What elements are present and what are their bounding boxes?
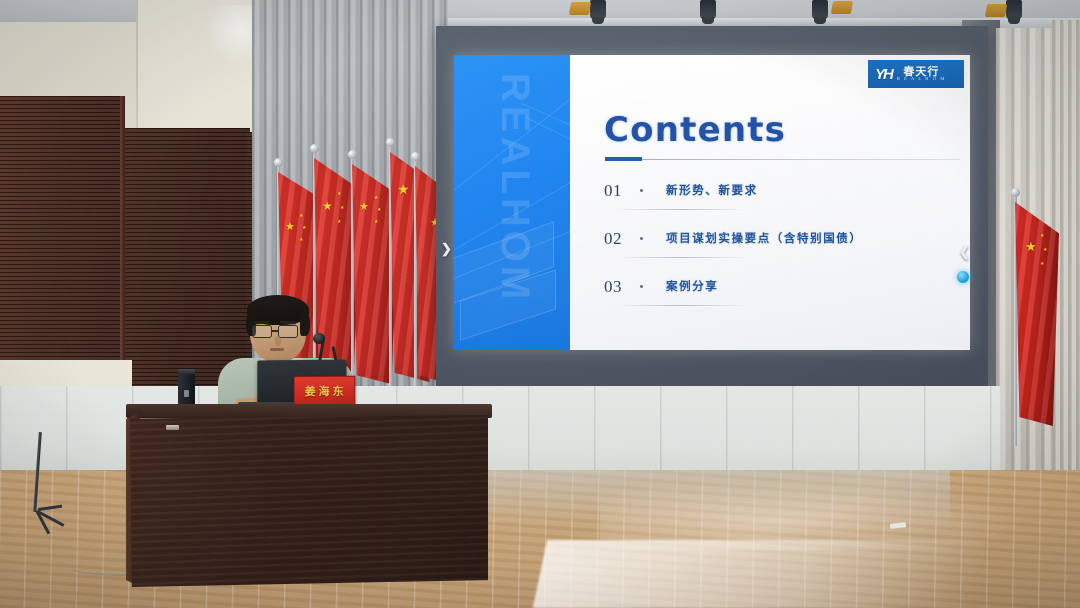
flag-star-icon: ★ bbox=[299, 238, 303, 243]
ceiling-warm-lamp bbox=[569, 2, 591, 15]
flag-finial-icon bbox=[310, 144, 319, 153]
presenter-hair bbox=[300, 310, 310, 336]
ceiling-track-light bbox=[590, 0, 606, 20]
screen-status-indicator[interactable] bbox=[957, 271, 969, 283]
flag-star-icon: ★ bbox=[299, 214, 303, 219]
flag-finial-icon bbox=[348, 150, 357, 159]
flag-star-icon: ★ bbox=[340, 206, 344, 211]
nameplate-char: 姜 bbox=[305, 383, 316, 399]
logo-monogram-icon: YH bbox=[875, 67, 892, 82]
conference-hall-photo: ★ ★ ★ ★ ★ ★ ★ ★ ★ ★ ★ ★ ★ ★ ★ ★ ★ bbox=[0, 0, 1080, 608]
flag-star-icon: ★ bbox=[374, 220, 378, 225]
flag-finial-icon bbox=[274, 158, 283, 167]
flag-star-icon: ★ bbox=[337, 192, 341, 197]
wood-slat-panel bbox=[0, 96, 124, 396]
toc-bullet-icon bbox=[640, 285, 643, 288]
projection-screen-surface[interactable]: REALHOM YH 春天行 R E A L H O M Contents 01 bbox=[454, 55, 970, 350]
logo-english-name: R E A L H O M bbox=[897, 77, 946, 82]
toc-divider bbox=[616, 209, 746, 210]
speaker-nameplate: 姜 海 东 bbox=[294, 376, 356, 406]
flag-star-icon: ★ bbox=[1025, 240, 1037, 253]
presenter-nose bbox=[275, 336, 281, 346]
flag-finial-icon bbox=[386, 138, 395, 147]
ceiling-track-light bbox=[1006, 0, 1022, 20]
flag-star-icon: ★ bbox=[374, 196, 378, 201]
flag-cloth bbox=[1015, 202, 1059, 426]
slide-title-rule bbox=[605, 159, 960, 160]
microphone-head-icon bbox=[313, 333, 325, 344]
eyeglasses-bridge bbox=[272, 330, 279, 332]
toc-bullet-icon bbox=[640, 237, 643, 240]
prev-slide-chevron-icon[interactable]: ❯ bbox=[441, 241, 452, 257]
toc-label: 新形势、新要求 bbox=[666, 182, 758, 198]
floor-highlight bbox=[533, 540, 987, 608]
toc-number: 01 bbox=[604, 181, 622, 201]
eyeglasses-icon bbox=[252, 325, 272, 338]
podium-badge bbox=[166, 425, 179, 430]
flag-star-icon: ★ bbox=[302, 226, 306, 231]
slide-contents-list: 01 新形势、新要求 02 项目谋划实操要点（含特别国债） 03 bbox=[604, 177, 952, 321]
projection-screen-frame: REALHOM YH 春天行 R E A L H O M Contents 01 bbox=[436, 26, 988, 386]
slide-body: YH 春天行 R E A L H O M Contents 01 新形势、新要求 bbox=[570, 55, 970, 350]
slide-blue-sidebar: REALHOM bbox=[454, 55, 570, 350]
nameplate-char: 海 bbox=[319, 383, 330, 399]
list-item[interactable]: 02 项目谋划实操要点（含特别国债） bbox=[604, 225, 952, 273]
toc-divider bbox=[616, 257, 746, 258]
flag-finial-icon bbox=[1011, 188, 1020, 197]
flag-star-icon: ★ bbox=[337, 220, 341, 225]
list-item[interactable]: 03 案例分享 bbox=[604, 273, 952, 321]
thermos-cap bbox=[178, 369, 195, 374]
toc-label: 项目谋划实操要点（含特别国债） bbox=[666, 230, 863, 246]
nameplate-char: 东 bbox=[332, 383, 343, 399]
chinese-flag: ★ ★ ★ ★ bbox=[1014, 196, 1062, 446]
flag-star-icon: ★ bbox=[1040, 234, 1044, 239]
toc-number: 03 bbox=[604, 277, 622, 297]
podium-front-panel bbox=[130, 415, 488, 587]
flag-finial-icon bbox=[411, 152, 420, 161]
ceiling-track-light bbox=[700, 0, 716, 20]
slide-watermark-text: REALHOM bbox=[492, 73, 537, 303]
flag-star-icon: ★ bbox=[1040, 262, 1044, 267]
flag-star-icon: ★ bbox=[397, 182, 410, 196]
presenter-mouth bbox=[270, 348, 284, 351]
toc-bullet-icon bbox=[640, 189, 643, 192]
ceiling-warm-lamp bbox=[831, 1, 853, 14]
toc-label: 案例分享 bbox=[666, 278, 718, 294]
slide-title: Contents bbox=[604, 110, 786, 150]
list-item[interactable]: 01 新形势、新要求 bbox=[604, 177, 952, 225]
flag-star-icon: ★ bbox=[1043, 248, 1047, 253]
eyeglasses-icon bbox=[278, 325, 298, 338]
flag-star-icon: ★ bbox=[285, 222, 295, 233]
ceiling-track-light bbox=[812, 0, 828, 20]
ceiling-warm-lamp bbox=[985, 4, 1007, 17]
flag-star-icon: ★ bbox=[377, 208, 381, 213]
toc-number: 02 bbox=[604, 229, 622, 249]
flag-star-icon: ★ bbox=[359, 202, 369, 213]
next-slide-chevron-icon[interactable]: ❮ bbox=[959, 244, 970, 260]
company-logo: YH 春天行 R E A L H O M bbox=[868, 60, 964, 88]
thermos-logo bbox=[184, 390, 189, 397]
flag-star-icon: ★ bbox=[322, 200, 333, 212]
toc-divider bbox=[616, 305, 746, 306]
slide-title-accent bbox=[605, 157, 642, 161]
